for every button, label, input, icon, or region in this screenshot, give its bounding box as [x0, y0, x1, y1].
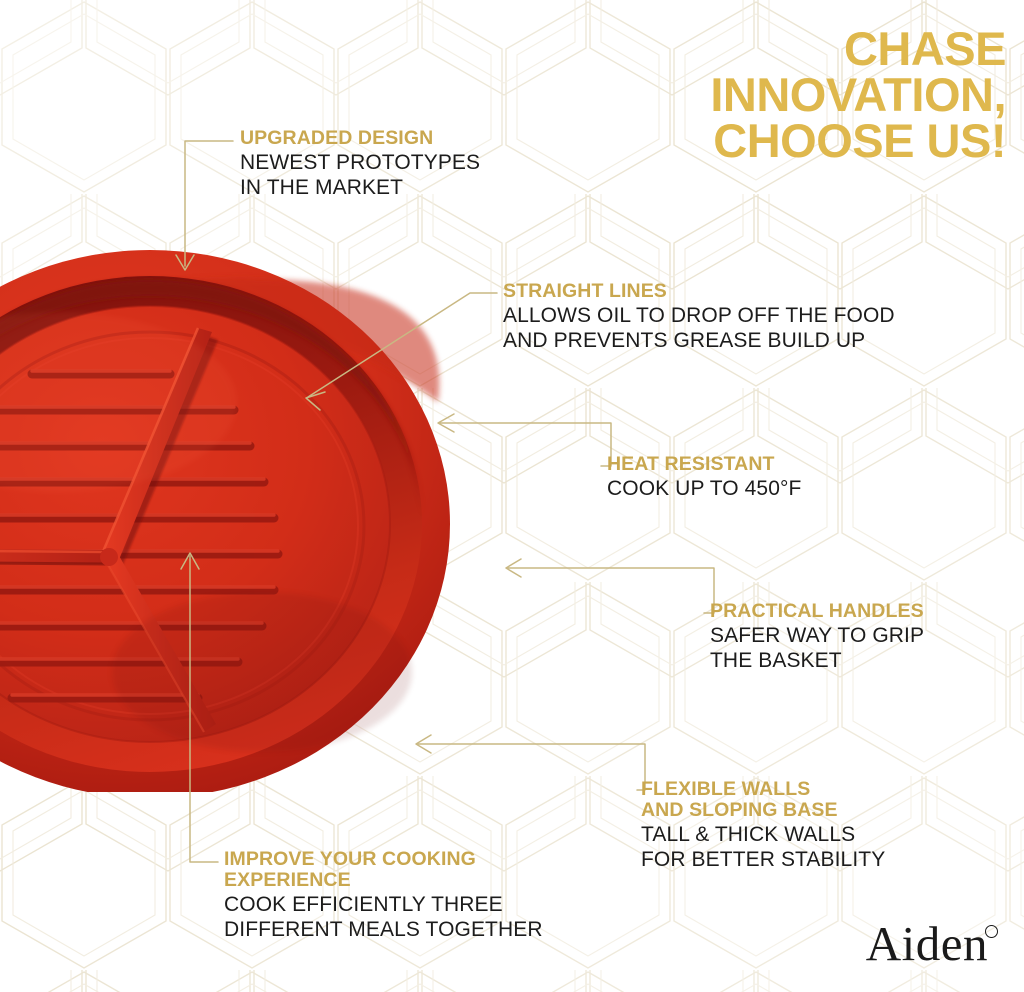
callout-title: IMPROVE YOUR COOKING EXPERIENCE [224, 849, 543, 891]
brand-logo-text: Aiden [866, 919, 988, 968]
headline-line-2: INNOVATION, [710, 72, 1006, 118]
headline-line-1: CHASE [710, 26, 1006, 72]
callout-title: FLEXIBLE WALLS AND SLOPING BASE [641, 779, 885, 821]
page-headline: CHASE INNOVATION, CHOOSE US! [710, 26, 1006, 164]
circle-degree-mark-icon [985, 925, 998, 938]
callout-body: ALLOWS OIL TO DROP OFF THE FOOD AND PREV… [503, 304, 895, 353]
callout-upgraded-design: UPGRADED DESIGN NEWEST PROTOTYPES IN THE… [240, 128, 480, 200]
callout-title: STRAIGHT LINES [503, 281, 895, 302]
callout-flexible-walls: FLEXIBLE WALLS AND SLOPING BASE TALL & T… [641, 779, 885, 872]
brand-logo: Aiden [866, 919, 998, 968]
callout-straight-lines: STRAIGHT LINES ALLOWS OIL TO DROP OFF TH… [503, 281, 895, 353]
callout-title: PRACTICAL HANDLES [710, 601, 924, 622]
callout-title: HEAT RESISTANT [607, 454, 801, 475]
callout-body: TALL & THICK WALLS FOR BETTER STABILITY [641, 823, 885, 872]
callout-body: COOK UP TO 450°F [607, 477, 801, 502]
callout-body: SAFER WAY TO GRIP THE BASKET [710, 624, 924, 673]
product-image-air-fryer-basket [0, 232, 522, 792]
callout-practical-handles: PRACTICAL HANDLES SAFER WAY TO GRIP THE … [710, 601, 924, 673]
callout-title: UPGRADED DESIGN [240, 128, 480, 149]
callout-heat-resistant: HEAT RESISTANT COOK UP TO 450°F [607, 454, 801, 502]
headline-line-3: CHOOSE US! [710, 118, 1006, 164]
callout-improve-cooking: IMPROVE YOUR COOKING EXPERIENCE COOK EFF… [224, 849, 543, 942]
callout-body: COOK EFFICIENTLY THREE DIFFERENT MEALS T… [224, 893, 543, 942]
callout-body: NEWEST PROTOTYPES IN THE MARKET [240, 151, 480, 200]
